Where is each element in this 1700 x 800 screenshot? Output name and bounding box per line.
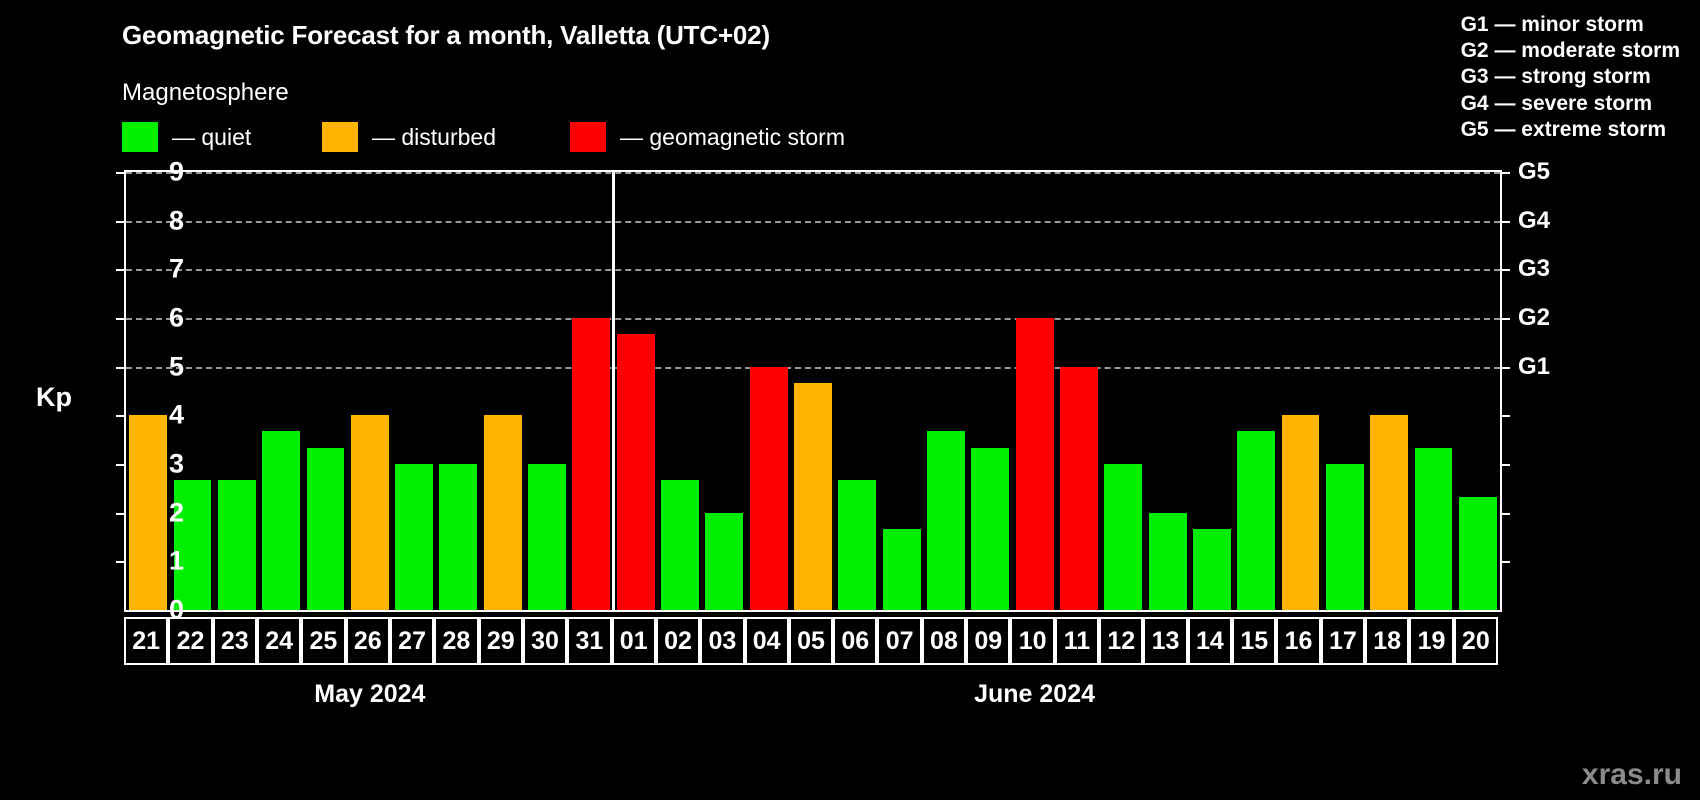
y-tick-6 (116, 318, 126, 320)
legend-label-quiet: — quiet (172, 124, 251, 151)
y-axis-label: Kp (36, 382, 72, 413)
bar-28[interactable] (439, 464, 477, 610)
month-divider (612, 172, 615, 610)
g-tick-label-G1: G1 (1518, 353, 1578, 381)
bar-07[interactable] (883, 529, 921, 610)
date-cell-19[interactable]: 19 (1409, 617, 1453, 665)
bar-23[interactable] (218, 480, 256, 610)
bar-31[interactable] (572, 318, 610, 610)
y-tick-label-9: 9 (144, 157, 184, 188)
bar-08[interactable] (927, 431, 965, 610)
watermark: xras.ru (1582, 758, 1682, 792)
date-cell-01[interactable]: 01 (612, 617, 656, 665)
y-tick-1 (116, 561, 126, 563)
y-tick-right-9 (1500, 172, 1510, 174)
y-tick-label-6: 6 (144, 303, 184, 334)
bar-14[interactable] (1193, 529, 1231, 610)
bar-17[interactable] (1326, 464, 1364, 610)
date-cell-18[interactable]: 18 (1365, 617, 1409, 665)
g-legend-row-5: G5 — extreme storm (1461, 117, 1680, 143)
bar-09[interactable] (971, 448, 1009, 610)
y-tick-8 (116, 221, 126, 223)
g-scale-legend: G1 — minor stormG2 — moderate stormG3 — … (1461, 12, 1680, 143)
date-cell-25[interactable]: 25 (301, 617, 345, 665)
magnetosphere-label: Magnetosphere (122, 79, 289, 107)
date-cell-07[interactable]: 07 (877, 617, 921, 665)
gridline-kp-7 (126, 269, 1500, 271)
y-tick-right-3 (1500, 464, 1510, 466)
bar-20[interactable] (1459, 497, 1497, 610)
bar-10[interactable] (1016, 318, 1054, 610)
bar-25[interactable] (307, 448, 345, 610)
date-cell-11[interactable]: 11 (1055, 617, 1099, 665)
date-cell-27[interactable]: 27 (390, 617, 434, 665)
gridline-kp-9 (126, 172, 1500, 174)
y-tick-label-5: 5 (144, 351, 184, 382)
date-cell-20[interactable]: 20 (1454, 617, 1498, 665)
g-legend-row-2: G2 — moderate storm (1461, 38, 1680, 64)
legend-label-disturbed: — disturbed (372, 124, 496, 151)
legend-item-storm: — geomagnetic storm (570, 122, 845, 152)
bar-05[interactable] (794, 383, 832, 610)
date-cell-05[interactable]: 05 (789, 617, 833, 665)
date-cell-31[interactable]: 31 (567, 617, 611, 665)
date-cell-02[interactable]: 02 (656, 617, 700, 665)
bar-12[interactable] (1104, 464, 1142, 610)
date-cell-30[interactable]: 30 (523, 617, 567, 665)
y-tick-label-0: 0 (144, 595, 184, 626)
y-tick-right-2 (1500, 513, 1510, 515)
g-tick-label-G5: G5 (1518, 158, 1578, 186)
bar-13[interactable] (1149, 513, 1187, 610)
gridline-kp-8 (126, 221, 1500, 223)
y-tick-label-8: 8 (144, 205, 184, 236)
bar-03[interactable] (705, 513, 743, 610)
bar-27[interactable] (395, 464, 433, 610)
legend-item-quiet: — quiet (122, 122, 251, 152)
bar-15[interactable] (1237, 431, 1275, 610)
month-caption-0: May 2024 (314, 680, 425, 709)
bar-24[interactable] (262, 431, 300, 610)
y-tick-right-1 (1500, 561, 1510, 563)
bar-11[interactable] (1060, 367, 1098, 610)
date-cell-24[interactable]: 24 (257, 617, 301, 665)
y-tick-label-7: 7 (144, 254, 184, 285)
y-tick-4 (116, 415, 126, 417)
bar-30[interactable] (528, 464, 566, 610)
y-tick-right-6 (1500, 318, 1510, 320)
date-cell-28[interactable]: 28 (434, 617, 478, 665)
bar-04[interactable] (750, 367, 788, 610)
plot-area (124, 170, 1502, 612)
y-tick-5 (116, 367, 126, 369)
g-legend-row-3: G3 — strong storm (1461, 64, 1680, 90)
y-tick-2 (116, 513, 126, 515)
g-tick-label-G3: G3 (1518, 255, 1578, 283)
bar-26[interactable] (351, 415, 389, 610)
bar-18[interactable] (1370, 415, 1408, 610)
date-cell-08[interactable]: 08 (922, 617, 966, 665)
y-tick-label-3: 3 (144, 449, 184, 480)
y-tick-right-5 (1500, 367, 1510, 369)
bar-16[interactable] (1282, 415, 1320, 610)
legend-label-storm: — geomagnetic storm (620, 124, 845, 151)
date-cell-06[interactable]: 06 (833, 617, 877, 665)
gridline-kp-6 (126, 318, 1500, 320)
date-axis: 2122232425262728293031010203040506070809… (124, 617, 1502, 665)
y-tick-label-2: 2 (144, 497, 184, 528)
bar-29[interactable] (484, 415, 522, 610)
date-cell-29[interactable]: 29 (479, 617, 523, 665)
y-tick-right-7 (1500, 269, 1510, 271)
y-tick-right-8 (1500, 221, 1510, 223)
date-cell-14[interactable]: 14 (1188, 617, 1232, 665)
y-tick-label-1: 1 (144, 546, 184, 577)
date-cell-03[interactable]: 03 (700, 617, 744, 665)
bar-01[interactable] (617, 334, 655, 610)
legend-item-disturbed: — disturbed (322, 122, 496, 152)
date-cell-17[interactable]: 17 (1321, 617, 1365, 665)
y-tick-9 (116, 172, 126, 174)
month-caption-1: June 2024 (974, 680, 1095, 709)
g-tick-label-G4: G4 (1518, 207, 1578, 235)
bar-02[interactable] (661, 480, 699, 610)
legend-swatch-quiet-icon (122, 122, 158, 152)
date-cell-16[interactable]: 16 (1276, 617, 1320, 665)
bar-06[interactable] (838, 480, 876, 610)
legend-swatch-storm-icon (570, 122, 606, 152)
gridline-kp-5 (126, 367, 1500, 369)
date-cell-13[interactable]: 13 (1143, 617, 1187, 665)
date-cell-15[interactable]: 15 (1232, 617, 1276, 665)
page-title: Geomagnetic Forecast for a month, Vallet… (122, 20, 770, 51)
y-tick-right-4 (1500, 415, 1510, 417)
plot-inner (126, 172, 1500, 610)
y-tick-7 (116, 269, 126, 271)
date-cell-12[interactable]: 12 (1099, 617, 1143, 665)
date-cell-10[interactable]: 10 (1010, 617, 1054, 665)
g-legend-row-4: G4 — severe storm (1461, 91, 1680, 117)
date-cell-23[interactable]: 23 (213, 617, 257, 665)
date-cell-26[interactable]: 26 (346, 617, 390, 665)
date-cell-09[interactable]: 09 (966, 617, 1010, 665)
g-legend-row-1: G1 — minor storm (1461, 12, 1680, 38)
y-tick-3 (116, 464, 126, 466)
g-tick-label-G2: G2 (1518, 304, 1578, 332)
legend-swatch-disturbed-icon (322, 122, 358, 152)
bar-19[interactable] (1415, 448, 1453, 610)
date-cell-04[interactable]: 04 (745, 617, 789, 665)
y-tick-label-4: 4 (144, 400, 184, 431)
